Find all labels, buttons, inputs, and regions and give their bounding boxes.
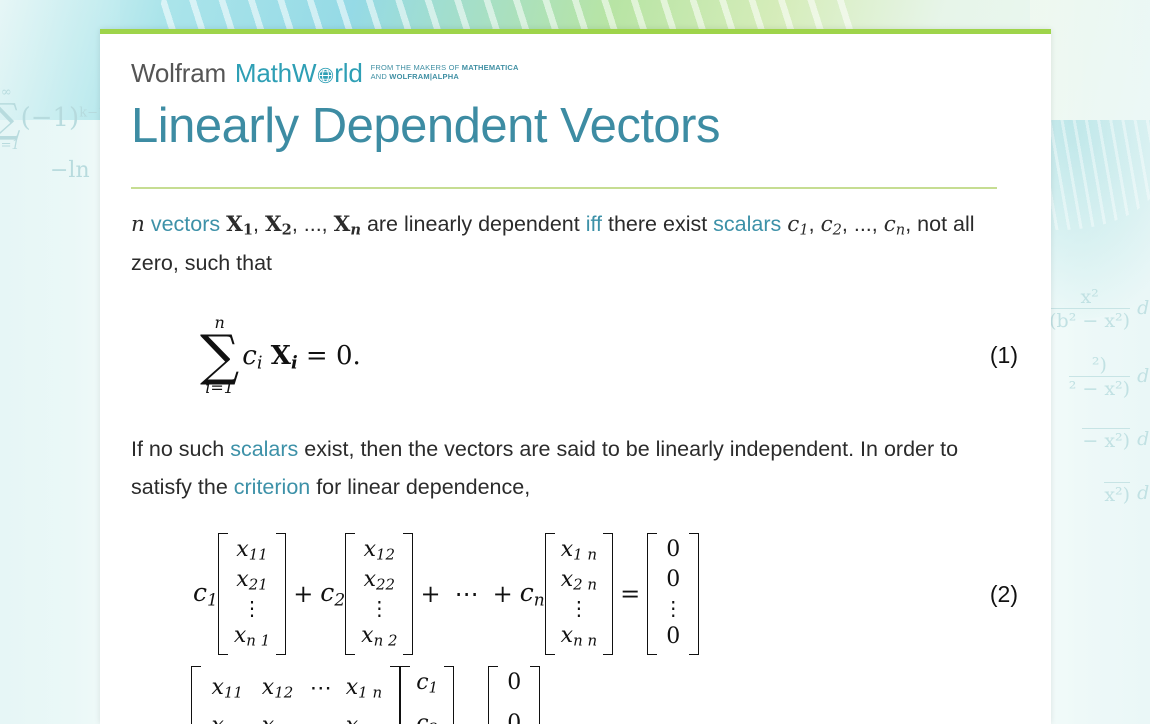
cell-vdots: ⋮ <box>663 597 683 620</box>
link-scalars-1[interactable]: scalars <box>713 212 781 236</box>
logo-rld-text: rld <box>334 60 362 86</box>
text-there-exist: there exist <box>602 212 713 236</box>
bg-dx: d x <box>1137 365 1150 387</box>
bracket-right <box>689 533 699 655</box>
c-subscript: 1 <box>207 590 218 610</box>
plus-sign-1: + <box>286 580 320 608</box>
coefficient-c1: c1 <box>193 578 218 610</box>
summation-operator: n ∑ i=1 <box>200 315 239 396</box>
cell-x11: x11 <box>234 537 270 564</box>
cell-zero-2: 0 <box>663 567 683 592</box>
tagline-text-1: FROM THE MAKERS OF <box>371 63 462 72</box>
equation-1: n ∑ i=1 ci Xi = 0. (1) <box>131 304 1020 408</box>
vector-Xn: Xn <box>334 212 361 237</box>
bg-frac-num: x² <box>1049 286 1130 308</box>
scalar-cn: cn <box>884 212 905 237</box>
bg-frac-den: ² − x²) <box>1069 376 1130 400</box>
bracket-left <box>345 533 355 655</box>
c-subscript: n <box>896 221 905 238</box>
vector-X1: X1 <box>226 212 253 237</box>
c-column-vector-cells: c1 c2 ⋮ cn <box>410 666 444 724</box>
cell-x1n: x1 n <box>561 537 597 564</box>
equation-2-body: c1 x11 x21 ⋮ xn 1 + c2 <box>193 533 699 655</box>
text-are-linearly-dependent: are linearly dependent <box>361 212 586 236</box>
c-subscript: 1 <box>799 221 808 238</box>
column-vector-1: x11 x21 ⋮ xn 1 <box>218 533 286 655</box>
link-criterion[interactable]: criterion <box>234 475 310 499</box>
background-formula-left: ∞ ∑ k=1 (−1)k−1 −ln <box>0 86 106 183</box>
bracket-right <box>276 533 286 655</box>
column-vector-2: x12 x22 ⋮ xn 2 <box>345 533 413 655</box>
tagline-text-2: AND <box>371 72 390 81</box>
bg-dx: d x <box>1137 428 1150 450</box>
equation-1-rhs: 0. <box>336 341 361 371</box>
cell-cdots: ⋯ <box>310 676 332 701</box>
bg-frac-den: − x²) <box>1082 428 1130 452</box>
vector-Xi: Xi <box>271 341 298 371</box>
trailing-period: . <box>540 666 558 724</box>
bg-frac-den: (b² − x²) <box>1049 308 1130 332</box>
zero-vector: 0 0 ⋮ 0 <box>488 666 540 724</box>
c-symbol: c <box>821 212 833 237</box>
c-column-vector: c1 c2 ⋮ cn <box>400 666 454 724</box>
cell-x21: x21 <box>209 713 245 724</box>
cell-c2: c2 <box>416 711 438 724</box>
coefficient-matrix-cells: x11 x12 ⋯ x1 n x21 x22 ⋯ x2 n ⋮ ⋮ ⋱ ⋮ <box>201 666 390 724</box>
zero-vector-cells: 0 0 ⋮ 0 <box>498 666 530 724</box>
paragraph-independence: If no such scalars exist, then the vecto… <box>131 430 991 507</box>
plus-sign-2: + <box>413 580 447 608</box>
link-vectors[interactable]: vectors <box>151 212 220 236</box>
equation-2-number: (2) <box>990 581 1018 608</box>
paragraph-definition: n vectors X1, X2, ..., Xn are linearly d… <box>131 205 991 283</box>
globe-icon <box>317 62 334 79</box>
logo-w-text: W <box>292 60 316 86</box>
bracket-left <box>400 666 410 724</box>
scalar-ci: ci <box>242 341 262 371</box>
cell-x1n: x1 n <box>346 675 382 702</box>
sigma-icon: ∑ <box>200 329 239 381</box>
tagline-mathematica: MATHEMATICA <box>462 63 519 72</box>
text-if-no-such: If no such <box>131 437 230 461</box>
bracket-left <box>488 666 498 724</box>
logo-tagline: FROM THE MAKERS OF MATHEMATICA AND WOLFR… <box>371 63 519 82</box>
bracket-right <box>444 666 454 724</box>
cell-zero-1: 0 <box>663 537 683 562</box>
tagline-line-1: FROM THE MAKERS OF MATHEMATICA <box>371 63 519 72</box>
bg-sum-lower: k=1 <box>0 139 21 152</box>
cdots-1: ⋯ <box>448 580 486 608</box>
cell-vdots: ⋮ <box>561 597 597 620</box>
bracket-left <box>191 666 201 724</box>
logo-wolfram-text: Wolfram <box>131 60 226 86</box>
site-logo[interactable]: Wolfram MathWrld FROM THE MAKERS OF MATH… <box>131 34 1020 90</box>
X-symbol: X <box>271 341 291 371</box>
cell-xn1: xn 1 <box>234 623 270 650</box>
column-vector-n-cells: x1 n x2 n ⋮ xn n <box>555 533 603 653</box>
c-symbol: c <box>787 212 799 237</box>
cell-x2n: x2 n <box>561 567 597 594</box>
cell-zero-2: 0 <box>504 711 524 724</box>
column-vector-2-cells: x12 x22 ⋮ xn 2 <box>355 533 403 653</box>
bg-sum-symbol: ∑ <box>0 99 21 139</box>
equals-sign: = <box>454 666 488 724</box>
equation-3: x11 x12 ⋯ x1 n x21 x22 ⋯ x2 n ⋮ ⋮ ⋱ ⋮ <box>131 666 1020 724</box>
c-symbol: c <box>242 341 257 371</box>
mathworld-article-page: ∞ ∑ k=1 (−1)k−1 −ln x² (b² − x²) d x ²) … <box>0 0 1150 724</box>
text-for-linear-dependence: for linear dependence, <box>310 475 530 499</box>
background-formula-right-2: ²) ² − x²) d x <box>1069 354 1150 400</box>
cell-zero-4: 0 <box>663 624 683 649</box>
c-subscript: 2 <box>833 221 842 238</box>
X-subscript: n <box>350 221 361 238</box>
vector-X2: X2 <box>265 212 292 237</box>
link-iff[interactable]: iff <box>586 212 602 236</box>
X-subscript: i <box>291 352 298 373</box>
ellipsis-scalars: ..., <box>854 212 878 236</box>
page-title: Linearly Dependent Vectors <box>131 99 1020 154</box>
c-subscript: 2 <box>334 590 345 610</box>
background-formula-right-4: x²) d x <box>1104 482 1150 506</box>
cell-cdots: ⋯ <box>310 714 332 724</box>
c-symbol: c <box>320 578 334 607</box>
X-symbol: X <box>265 212 282 237</box>
bg-frac-den: x²) <box>1104 482 1130 506</box>
var-n: n <box>131 212 145 237</box>
tagline-line-2: AND WOLFRAM|ALPHA <box>371 72 459 81</box>
bracket-left <box>647 533 657 655</box>
tagline-wolfram-alpha: WOLFRAM|ALPHA <box>389 72 459 81</box>
bg-term: (−1) <box>21 103 80 133</box>
coefficient-c2: c2 <box>320 578 345 610</box>
cell-x22: x22 <box>259 713 295 724</box>
cell-xnn: xn n <box>561 623 597 650</box>
cell-x21: x21 <box>234 567 270 594</box>
zero-vector: 0 0 ⋮ 0 <box>647 533 699 655</box>
cell-x12: x12 <box>361 537 397 564</box>
column-vector-1-cells: x11 x21 ⋮ xn 1 <box>228 533 276 653</box>
cell-c1: c1 <box>416 670 438 697</box>
coefficient-cn: cn <box>520 578 545 610</box>
plus-sign-3: + <box>486 580 520 608</box>
bracket-left <box>545 533 555 655</box>
bg-dx: d x <box>1137 482 1150 504</box>
bracket-right <box>530 666 540 724</box>
equals-sign: = <box>613 580 647 608</box>
equals-sign: = <box>306 341 328 371</box>
cell-xn2: xn 2 <box>361 623 397 650</box>
cell-x22: x22 <box>361 567 397 594</box>
equation-3-body: x11 x12 ⋯ x1 n x21 x22 ⋯ x2 n ⋮ ⋮ ⋱ ⋮ <box>191 666 558 724</box>
bg-ln-term: −ln <box>50 158 106 183</box>
cell-x2n: x2 n <box>346 713 382 724</box>
c-symbol: c <box>520 578 534 607</box>
cell-vdots: ⋮ <box>234 597 270 620</box>
c-subscript: i <box>257 353 263 373</box>
bg-dx: d x <box>1137 297 1150 319</box>
X-subscript: 2 <box>282 221 292 238</box>
bracket-right <box>390 666 400 724</box>
article-card: Wolfram MathWrld FROM THE MAKERS OF MATH… <box>100 29 1051 724</box>
bracket-right <box>403 533 413 655</box>
logo-math-text: Math <box>235 60 292 86</box>
equation-1-number: (1) <box>990 342 1018 369</box>
logo-mathworld-text: MathWrld <box>235 60 363 86</box>
c-subscript: n <box>534 590 545 610</box>
c-symbol: c <box>884 212 896 237</box>
bg-frac-num: ²) <box>1069 354 1130 376</box>
X-symbol: X <box>334 212 351 237</box>
column-vector-n: x1 n x2 n ⋮ xn n <box>545 533 613 655</box>
background-formula-right-3: − x²) d x <box>1082 428 1150 452</box>
ellipsis-vectors: ..., <box>304 212 328 236</box>
X-subscript: 1 <box>243 221 253 238</box>
link-scalars-2[interactable]: scalars <box>230 437 298 461</box>
equation-1-body: n ∑ i=1 ci Xi = 0. <box>200 315 361 396</box>
scalar-c1: c1 <box>787 212 808 237</box>
equation-2: c1 x11 x21 ⋮ xn 1 + c2 <box>131 530 1020 658</box>
equation-1-expression: ci Xi = 0. <box>242 341 361 373</box>
background-formula-right-1: x² (b² − x²) d x <box>1049 286 1150 332</box>
coefficient-matrix: x11 x12 ⋯ x1 n x21 x22 ⋯ x2 n ⋮ ⋮ ⋱ ⋮ <box>191 666 400 724</box>
cell-x11: x11 <box>209 675 245 702</box>
cell-zero-1: 0 <box>504 670 524 695</box>
c-symbol: c <box>193 578 207 607</box>
bracket-right <box>603 533 613 655</box>
X-symbol: X <box>226 212 243 237</box>
cell-x12: x12 <box>259 675 295 702</box>
scalar-c2: c2 <box>821 212 842 237</box>
sum-lower-limit: i=1 <box>200 380 239 396</box>
zero-vector-cells: 0 0 ⋮ 0 <box>657 533 689 653</box>
title-divider <box>131 187 997 189</box>
bracket-left <box>218 533 228 655</box>
cell-vdots: ⋮ <box>361 597 397 620</box>
